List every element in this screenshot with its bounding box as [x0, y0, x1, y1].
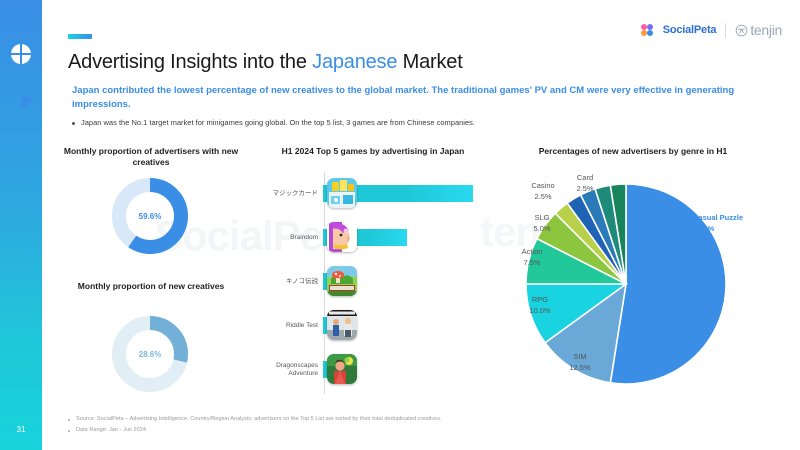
bar-row: マジックカード [248, 172, 498, 216]
bar-label: キノコ伝説 [248, 278, 322, 286]
brand-row: SocialPeta tenjin [641, 22, 782, 38]
tenjin-mark-icon [735, 24, 748, 37]
subtitle: Japan contributed the lowest percentage … [72, 84, 744, 112]
pie-label-card: Card 2.5% [568, 172, 602, 195]
donut-advertisers-value: 59.6% [108, 174, 192, 258]
bullet-text: Japan was the No.1 target market for min… [81, 117, 475, 128]
footer-date-range: Date Range: Jan - Jun 2024 [76, 426, 146, 434]
magic-card-icon [327, 178, 357, 208]
title-highlight: Japanese [312, 51, 397, 73]
bar-track [322, 172, 498, 216]
page-number: 31 [0, 425, 42, 434]
bullet-item: Japan was the No.1 target market for min… [72, 117, 532, 128]
pie-label-slg: SLG 5.0% [524, 212, 560, 235]
bar-label: マジックカード [248, 190, 322, 198]
donut-advertisers-title: Monthly proportion of advertisers with n… [62, 146, 240, 169]
title-part-1: Advertising Insights into the [68, 51, 312, 73]
dragonscapes-icon [327, 354, 357, 384]
bar-track [322, 304, 498, 348]
bar-track [322, 260, 498, 304]
pie-label-casino: Casino 2.5% [522, 180, 564, 203]
pie-label-rpg: RPG 10.0% [520, 294, 560, 317]
page-title: Advertising Insights into the Japanese M… [68, 51, 463, 74]
donut-creatives-chart: 28.6% [108, 312, 192, 396]
footer-source-row: Source: SocialPeta – Advertising Intelli… [68, 415, 668, 423]
tenjin-logo: tenjin [735, 22, 782, 38]
bar-row: キノコ伝説 [248, 260, 498, 304]
donut-creatives-title: Monthly proportion of new creatives [62, 281, 240, 292]
bar-label: Dragonscapes Adventure [248, 362, 322, 378]
bar-label: Braindom [248, 234, 322, 242]
title-accent-bar [68, 34, 92, 39]
bar-track [322, 216, 498, 260]
genre-share-chart: Casual Puzzle 52.5% SIM 12.5% RPG 10.0% … [508, 166, 768, 394]
kinoko-densetsu-icon [327, 266, 357, 296]
riddle-test-icon [327, 310, 357, 340]
top-games-chart: マジックカード Braindom [248, 172, 498, 394]
pie-label-sim: SIM 12.5% [560, 351, 600, 374]
pie-label-casual-puzzle: Casual Puzzle 52.5% [693, 212, 743, 235]
top-games-title: H1 2024 Top 5 games by advertising in Ja… [248, 146, 498, 157]
brand-divider [725, 23, 726, 38]
tenjin-wordmark: tenjin [750, 22, 782, 38]
bar-label: Riddle Test [248, 322, 322, 330]
logo-notch [21, 97, 32, 108]
donut-advertisers-chart: 59.6% [108, 174, 192, 258]
footer-dot-icon [68, 430, 70, 432]
socialpeta-wordmark: SocialPeta [663, 24, 717, 36]
bar-row: Riddle Test [248, 304, 498, 348]
socialpeta-logo-icon [641, 24, 654, 37]
left-rail: 31 [0, 0, 42, 450]
title-part-2: Market [397, 51, 462, 73]
bar-row: Dragonscapes Adventure [248, 348, 498, 392]
genre-share-title: Percentages of new advertisers by genre … [508, 146, 758, 157]
footer-source: Source: SocialPeta – Advertising Intelli… [76, 415, 442, 423]
bullet-dot-icon [72, 122, 75, 125]
footer-dot-icon [68, 419, 70, 421]
footer: Source: SocialPeta – Advertising Intelli… [68, 415, 668, 436]
brand-logo-icon [11, 44, 31, 64]
bar-row: Braindom [248, 216, 498, 260]
braindom-icon [327, 222, 357, 252]
bar-track [322, 348, 498, 392]
pie-label-action: Action 7.5% [510, 246, 554, 269]
footer-date-row: Date Range: Jan - Jun 2024 [68, 426, 668, 434]
donut-creatives-value: 28.6% [108, 312, 192, 396]
slide: 31 SocialPeta tenjin Advertising Insight… [0, 0, 800, 450]
